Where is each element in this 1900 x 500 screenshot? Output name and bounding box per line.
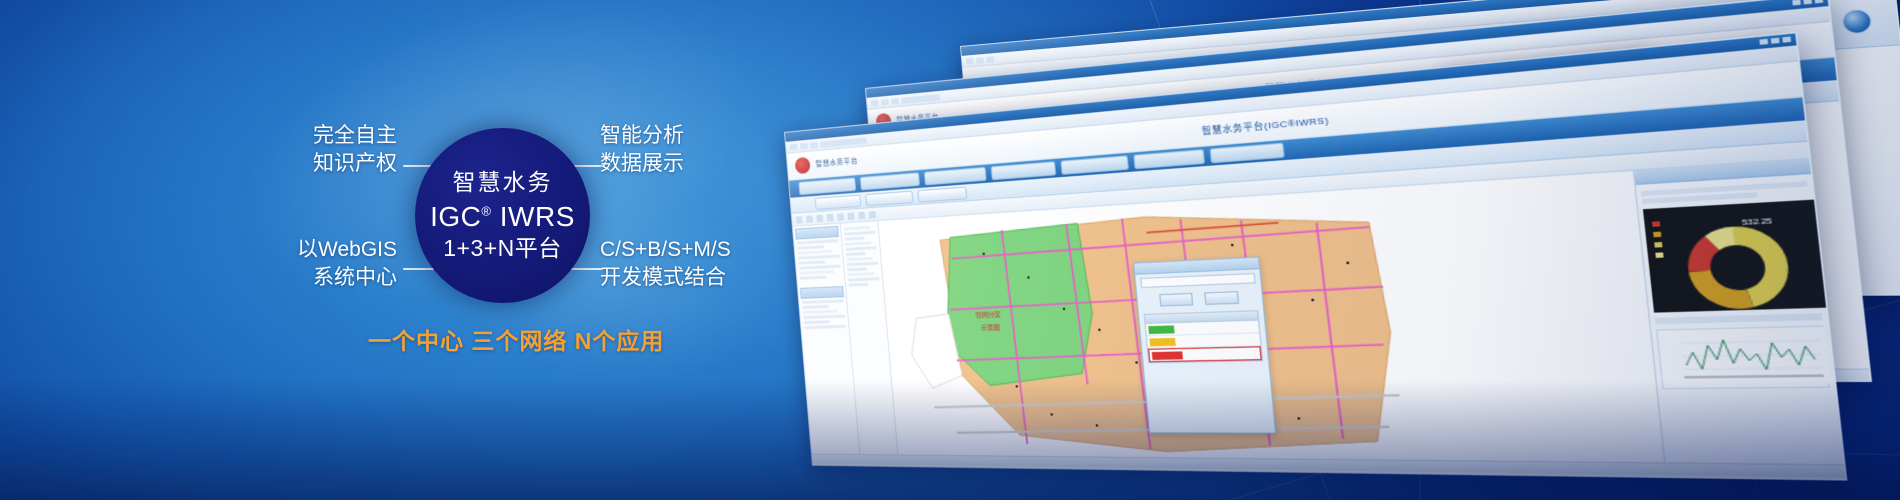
supply-donut-chart: 532.25 <box>1643 200 1821 313</box>
gis-tool-icon[interactable] <box>869 210 876 218</box>
gis-tool-icon[interactable] <box>826 213 833 221</box>
feature-label-line1: 智能分析 <box>600 124 684 147</box>
svg-text:532.25: 532.25 <box>1742 218 1773 228</box>
product-badge-circle: 智慧水务 IGC® IWRS 1+3+N平台 <box>415 128 590 303</box>
sub-tab[interactable] <box>815 194 862 210</box>
gis-tool-icon[interactable] <box>806 215 813 222</box>
gis-tool-icon[interactable] <box>816 214 823 222</box>
dialog-input[interactable] <box>1140 273 1255 288</box>
gis-tool-icon[interactable] <box>858 211 865 219</box>
sub-tab[interactable] <box>865 190 913 206</box>
dialog-reset-button[interactable] <box>1204 291 1239 305</box>
feature-label-top-left: 完全自主 知识产权 <box>180 122 397 179</box>
feature-label-line2: 数据展示 <box>600 150 684 178</box>
dialog-query-button[interactable] <box>1159 293 1193 307</box>
feature-label-line2: 系统中心 <box>180 264 397 292</box>
dialog-result-table[interactable] <box>1144 310 1264 363</box>
app-logo-icon <box>795 157 811 174</box>
gis-tool-icon[interactable] <box>796 216 803 223</box>
feature-label-line1: 以WebGIS <box>297 238 397 261</box>
brand-text: 智慧水务平台 <box>815 156 858 170</box>
feature-label-line2: 开发模式结合 <box>600 264 731 292</box>
sub-tab[interactable] <box>917 186 967 202</box>
hero-banner: 智慧水务平台(IGC®IWRS) <box>0 0 1900 500</box>
gis-tool-icon[interactable] <box>847 212 854 220</box>
badge-product-name: 智慧水务 <box>453 169 553 196</box>
feature-label-bottom-left: 以WebGIS 系统中心 <box>180 236 397 293</box>
registered-trademark-icon: ® <box>481 204 491 219</box>
badge-code-rest: IWRS <box>500 201 575 232</box>
bottom-shadow-overlay <box>0 380 1900 500</box>
feature-label-bottom-right: C/S+B/S+M/S 开发模式结合 <box>600 236 731 293</box>
badge-product-code: IGC® IWRS <box>430 200 575 233</box>
layer-panel-header <box>795 226 839 240</box>
feature-label-line1: C/S+B/S+M/S <box>600 238 731 261</box>
feature-label-line1: 完全自主 <box>313 124 397 147</box>
ribbon-icon[interactable] <box>1841 7 1873 34</box>
badge-code-main: IGC <box>430 201 481 232</box>
hero-tagline: 一个中心 三个网络 N个应用 <box>368 322 664 356</box>
badge-platform-tier: 1+3+N平台 <box>443 235 562 262</box>
feature-label-top-right: 智能分析 数据展示 <box>600 122 684 179</box>
feature-label-line2: 知识产权 <box>180 150 397 178</box>
props-panel-header <box>800 286 844 299</box>
gis-tool-icon[interactable] <box>837 213 844 221</box>
